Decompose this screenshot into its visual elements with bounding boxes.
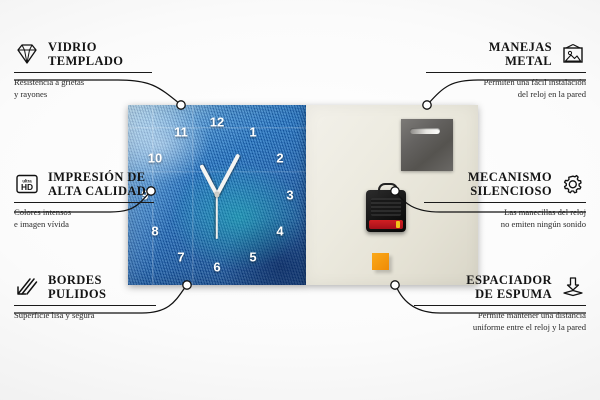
foam-spacer [372, 253, 389, 270]
callout-mecanismo-silencioso: MECANISMO SILENCIOSO Las manecillas del … [424, 170, 586, 230]
polished-edges-icon [14, 276, 40, 298]
callout-description: Superficie lisa y segura [14, 310, 156, 322]
callout-title: VIDRIO TEMPLADO [48, 40, 123, 68]
foam-spacer-arrow-icon [560, 276, 586, 298]
callout-divider [14, 72, 152, 73]
clock-front-face: 12 1 2 3 4 5 6 7 8 9 10 11 [128, 105, 306, 285]
svg-text:HD: HD [21, 182, 33, 192]
callout-header: ultra HD IMPRESIÓN DE ALTA CALIDAD [14, 170, 154, 198]
picture-frame-hanger-icon [560, 43, 586, 65]
callout-header: BORDES PULIDOS [14, 273, 156, 301]
battery [369, 220, 403, 229]
clock-numeral-2: 2 [276, 152, 283, 165]
callout-impresion-alta-calidad: ultra HD IMPRESIÓN DE ALTA CALIDAD Color… [14, 170, 154, 230]
diamond-icon [14, 43, 40, 65]
clock-second-hand [216, 195, 218, 239]
metal-hanger-plate [401, 119, 453, 171]
callout-description: Las manecillas del reloj no emiten ningú… [424, 207, 586, 230]
callout-header: MANEJAS METAL [426, 40, 586, 68]
callout-description: Permiten una fácil instalación del reloj… [426, 77, 586, 100]
clock-numeral-4: 4 [276, 225, 283, 238]
callout-title: BORDES PULIDOS [48, 273, 106, 301]
clock-numeral-3: 3 [286, 189, 293, 202]
clock-numeral-5: 5 [249, 251, 256, 264]
clock-numeral-12: 12 [210, 116, 224, 129]
callout-vidrio-templado: VIDRIO TEMPLADO Resistencia a grietas y … [14, 40, 152, 100]
clock-numeral-11: 11 [174, 126, 188, 139]
callout-header: ESPACIADOR DE ESPUMA [414, 273, 586, 301]
callout-manejas-metal: MANEJAS METAL Permiten una fácil instala… [426, 40, 586, 100]
callout-divider [414, 305, 586, 306]
callout-divider [426, 72, 586, 73]
clock-numeral-1: 1 [249, 126, 256, 139]
callout-divider [14, 202, 154, 203]
quartz-clock-mechanism [366, 190, 406, 232]
callout-title: IMPRESIÓN DE ALTA CALIDAD [48, 170, 146, 198]
callout-divider [14, 305, 156, 306]
clock-numeral-7: 7 [177, 251, 184, 264]
clock-numeral-10: 10 [148, 152, 162, 165]
callout-header: VIDRIO TEMPLADO [14, 40, 152, 68]
infographic-canvas: 12 1 2 3 4 5 6 7 8 9 10 11 [0, 0, 600, 400]
callout-description: Permite mantener una distancia uniforme … [414, 310, 586, 333]
clock-center-cap [215, 193, 220, 198]
callout-title: MANEJAS METAL [489, 40, 552, 68]
callout-description: Colores intensos e imagen vívida [14, 207, 154, 230]
mechanism-hanging-loop [378, 183, 398, 195]
callout-title: ESPACIADOR DE ESPUMA [466, 273, 552, 301]
callout-espaciador-de-espuma: ESPACIADOR DE ESPUMA Permite mantener un… [414, 273, 586, 333]
clock-numeral-6: 6 [213, 261, 220, 274]
callout-description: Resistencia a grietas y rayones [14, 77, 152, 100]
hanger-slot [410, 128, 440, 134]
gear-icon [560, 173, 586, 195]
ultra-hd-icon: ultra HD [14, 173, 40, 195]
callout-title: MECANISMO SILENCIOSO [468, 170, 552, 198]
callout-bordes-pulidos: BORDES PULIDOS Superficie lisa y segura [14, 273, 156, 322]
callout-divider [424, 202, 586, 203]
callout-header: MECANISMO SILENCIOSO [424, 170, 586, 198]
mechanism-housing-ridges [371, 198, 401, 216]
